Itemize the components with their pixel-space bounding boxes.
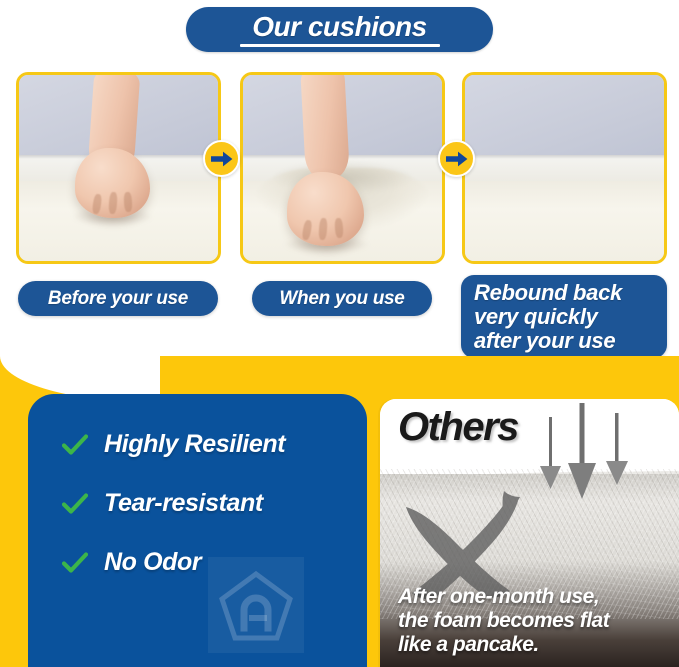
- step-caption-line-3: after your use: [474, 329, 622, 352]
- arrow-right-icon: [203, 140, 240, 177]
- infographic-canvas: Our cushions: [0, 0, 679, 667]
- foam-slab-front: [465, 181, 664, 261]
- others-caption-line-1: After one-month use,: [398, 585, 609, 609]
- benefit-label: Highly Resilient: [104, 432, 285, 457]
- step-image-during: [240, 72, 445, 264]
- page-title: Our cushions: [252, 13, 426, 41]
- benefit-label: Tear-resistant: [104, 491, 263, 516]
- page-title-badge: Our cushions: [186, 7, 493, 52]
- forearm: [300, 72, 350, 180]
- photo-background-wall: [465, 75, 664, 157]
- step-image-after: [462, 72, 667, 264]
- others-caption-line-3: like a pancake.: [398, 633, 609, 657]
- title-underline: [240, 44, 440, 47]
- arrow-right-icon: [438, 140, 475, 177]
- benefit-item: Highly Resilient: [62, 432, 285, 457]
- others-comparison-panel: Others: [380, 399, 679, 667]
- others-caption: After one-month use, the foam becomes fl…: [398, 585, 609, 657]
- others-title: Others: [398, 407, 518, 447]
- foam-edge-shadow: [465, 155, 664, 159]
- step-caption-line-2: very quickly: [474, 305, 622, 328]
- others-caption-line-2: the foam becomes flat: [398, 609, 609, 633]
- step-caption-during: When you use: [252, 281, 432, 316]
- benefits-list: Highly Resilient Tear-resistant No Odor: [62, 432, 285, 575]
- check-icon: [62, 434, 88, 456]
- step-image-before: [16, 72, 221, 264]
- step-caption-after: Rebound back very quickly after your use: [461, 275, 667, 358]
- down-arrows-icon: [530, 403, 650, 503]
- benefit-item: Tear-resistant: [62, 491, 285, 516]
- photo-scene-during: [243, 75, 442, 261]
- step-caption-text: When you use: [279, 289, 404, 308]
- house-logo-watermark-icon: [208, 557, 304, 653]
- step-caption-text: Before your use: [48, 289, 188, 308]
- ours-benefits-panel: Highly Resilient Tear-resistant No Odor: [28, 394, 367, 667]
- check-icon: [62, 493, 88, 515]
- photo-scene-after: [465, 75, 664, 261]
- check-icon: [62, 552, 88, 574]
- step-caption-line-1: Rebound back: [474, 281, 622, 304]
- photo-scene-before: [19, 75, 218, 261]
- benefit-label: No Odor: [104, 550, 201, 575]
- step-caption-before: Before your use: [18, 281, 218, 316]
